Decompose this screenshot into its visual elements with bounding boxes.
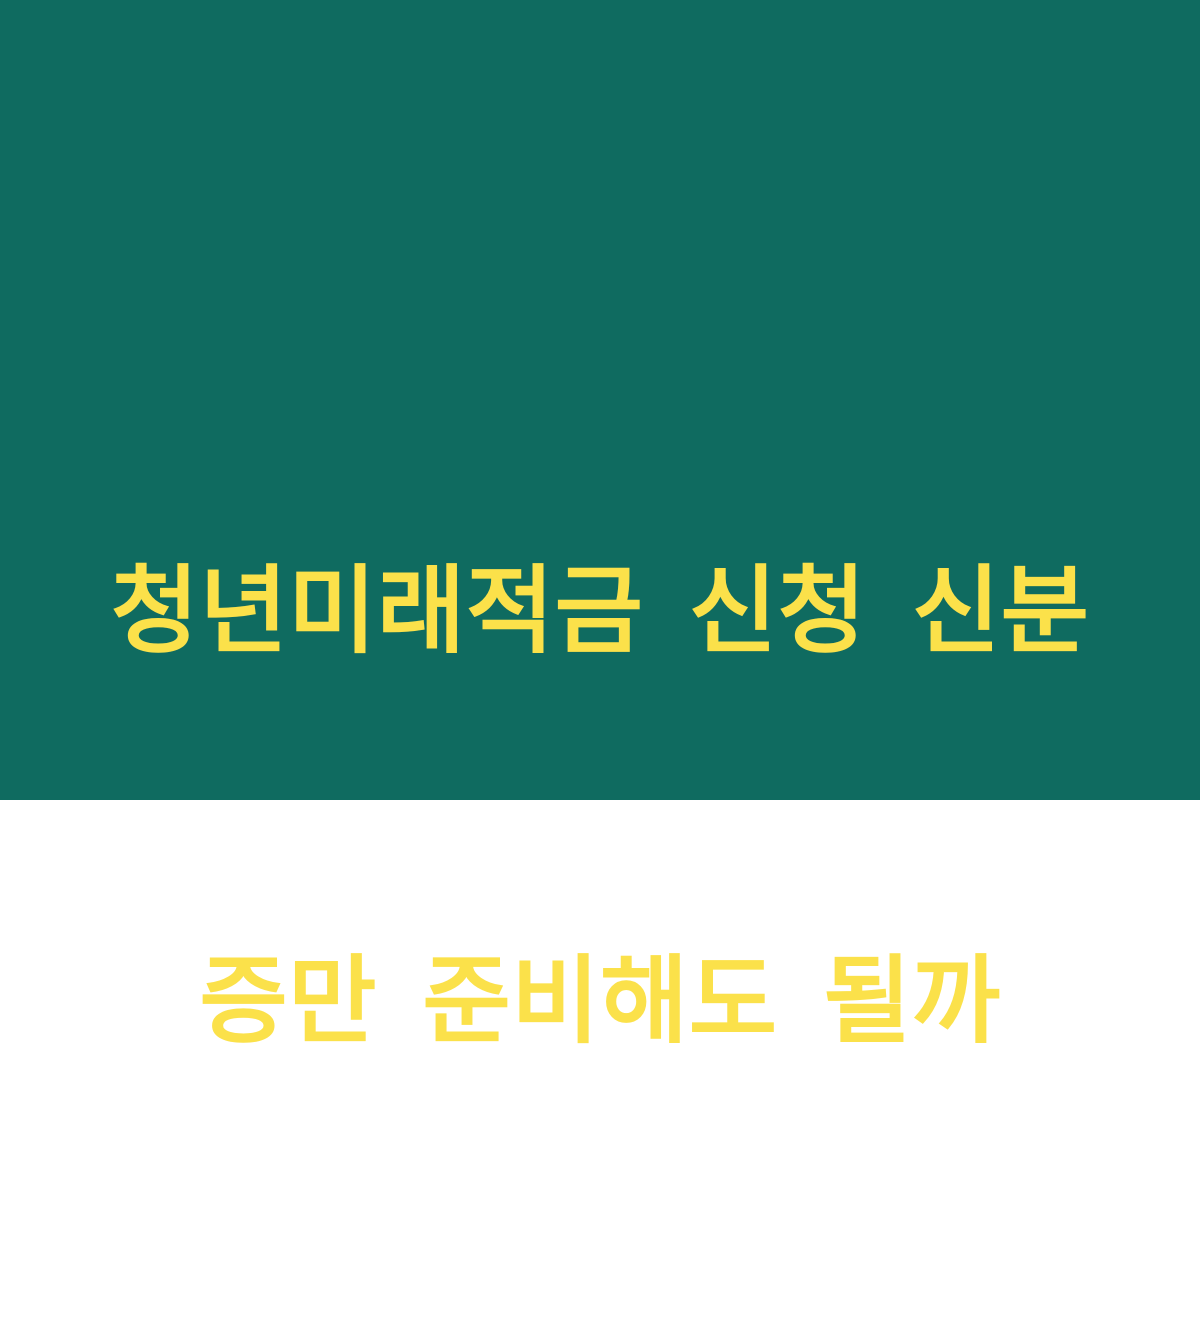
headline-line-1: 청년미래적금 신청 신분 — [0, 546, 1200, 676]
banner-background: 청년미래적금 신청 신분 증만 준비해도 될까 — [0, 0, 1200, 800]
headline: 청년미래적금 신청 신분 증만 준비해도 될까 — [0, 286, 1200, 1326]
headline-line-2: 증만 준비해도 될까 — [0, 936, 1200, 1066]
